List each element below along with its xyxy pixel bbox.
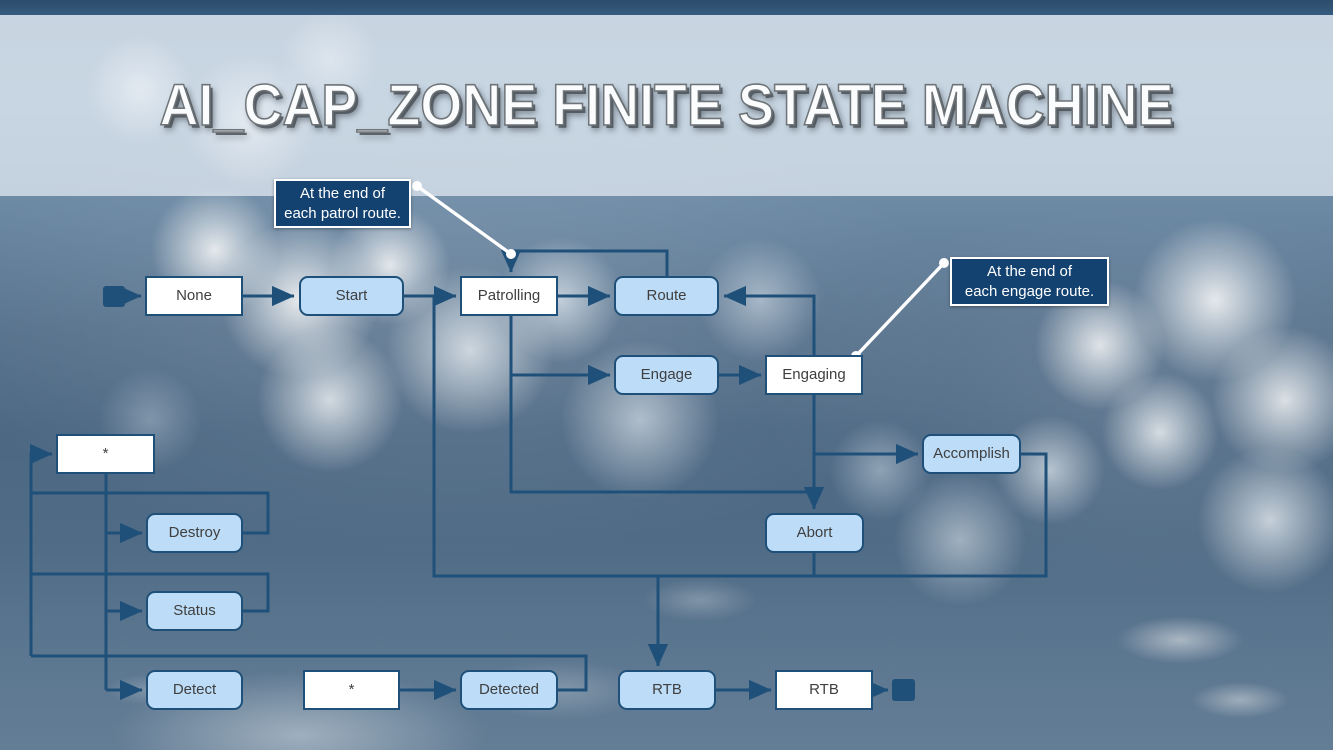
node-abort[interactable]: Abort [765, 513, 864, 553]
node-patrolling[interactable]: Patrolling [460, 276, 558, 316]
patrol-route-callout[interactable]: At the end of each patrol route. [274, 179, 411, 228]
node-star-any-1[interactable]: * [56, 434, 155, 474]
edge-route-patrolling-a [511, 251, 667, 276]
node-none[interactable]: None [145, 276, 243, 316]
node-start-label: Start [336, 288, 368, 305]
node-engaging-label: Engaging [782, 367, 845, 384]
start-node-marker[interactable] [103, 286, 125, 307]
node-engage-label: Engage [641, 367, 693, 384]
node-detected[interactable]: Detected [460, 670, 558, 710]
node-detect-label: Detect [173, 682, 216, 699]
node-detected-label: Detected [479, 682, 539, 699]
engage-callout-leader-line [856, 263, 944, 356]
node-rtb-event-label: RTB [652, 682, 682, 699]
node-start[interactable]: Start [299, 276, 404, 316]
patrol-callout-line-2: each patrol route. [284, 204, 401, 223]
node-status[interactable]: Status [146, 591, 243, 631]
edge-patrolling-engage [511, 316, 610, 375]
edge-patrolling-down-rtb-a [434, 296, 658, 576]
node-destroy[interactable]: Destroy [146, 513, 243, 553]
node-star-any-2[interactable]: * [303, 670, 400, 710]
node-star-any-2-label: * [349, 682, 355, 699]
node-engaging[interactable]: Engaging [765, 355, 863, 395]
node-accomplish-label: Accomplish [933, 446, 1010, 463]
edge-left-return-rail [31, 454, 52, 656]
node-rtb-state-label: RTB [809, 682, 839, 699]
engage-callout-line-1: At the end of [965, 262, 1094, 281]
node-destroy-label: Destroy [169, 525, 221, 542]
slide-canvas: AI_CAP_ZONE FINITE STATE MACHINE [0, 0, 1333, 750]
engage-route-callout[interactable]: At the end of each engage route. [950, 257, 1109, 306]
node-status-label: Status [173, 603, 216, 620]
node-route-label: Route [646, 288, 686, 305]
edge-engaging-accomplish [814, 395, 918, 454]
engage-leader-endpoint-a [939, 258, 949, 268]
patrol-leader-endpoint-a [412, 181, 422, 191]
node-route[interactable]: Route [614, 276, 719, 316]
patrol-leader-endpoint-b [506, 249, 516, 259]
node-detect[interactable]: Detect [146, 670, 243, 710]
end-node-marker[interactable] [892, 679, 915, 701]
node-patrolling-label: Patrolling [478, 288, 541, 305]
callout-leader-lines [412, 181, 949, 361]
node-star-any-1-label: * [103, 446, 109, 463]
node-accomplish[interactable]: Accomplish [922, 434, 1021, 474]
node-abort-label: Abort [797, 525, 833, 542]
node-engage[interactable]: Engage [614, 355, 719, 395]
node-rtb-state[interactable]: RTB [775, 670, 873, 710]
patrol-callout-line-1: At the end of [284, 184, 401, 203]
engage-callout-line-2: each engage route. [965, 282, 1094, 301]
patrol-callout-leader-line [417, 186, 511, 254]
node-rtb-event[interactable]: RTB [618, 670, 716, 710]
edge-engaging-route [724, 296, 814, 355]
node-none-label: None [176, 288, 212, 305]
